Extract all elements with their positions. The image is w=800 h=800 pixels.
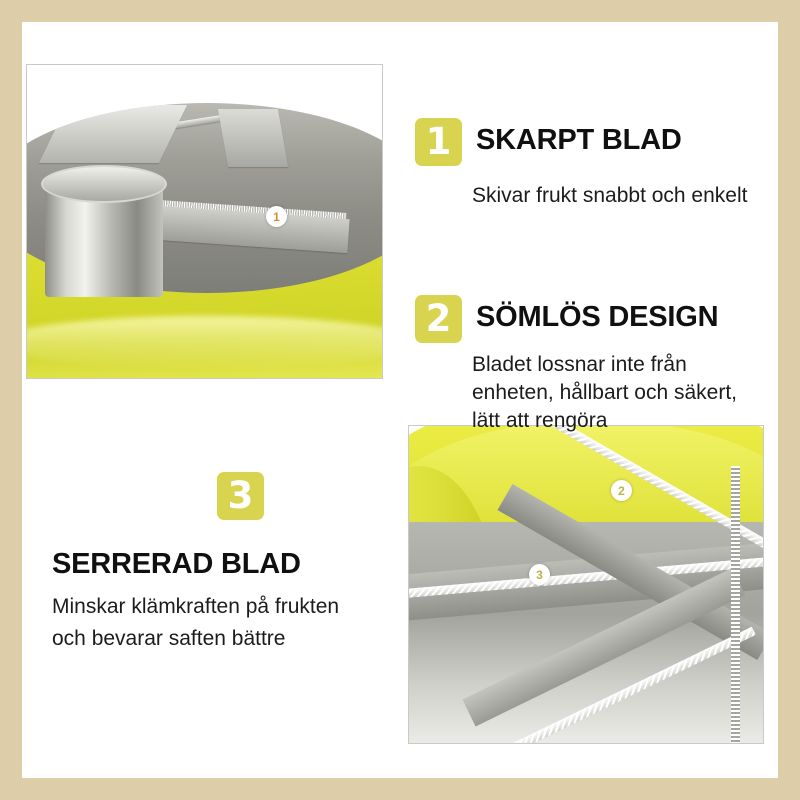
photo-top-inner: 1 — [27, 65, 382, 378]
blade-vertical — [731, 466, 740, 743]
photo-fruit-slicer-blade-closeup: 1 — [26, 64, 383, 379]
photo-marker-2: 2 — [611, 480, 632, 501]
feature-2-header-row: 2 SÖMLÖS DESIGN — [415, 295, 767, 343]
feature-2-body: Bladet lossnar inte från enheten, hållba… — [472, 351, 767, 435]
photo-bottom-inner: 2 3 — [409, 426, 763, 743]
product-feature-page: 1 2 3 1 SKARPT BLAD Skivar frukt snabbt … — [22, 22, 778, 778]
slicer-core-tube-rim — [41, 165, 167, 203]
feature-1-body: Skivar frukt snabbt och enkelt — [472, 180, 765, 212]
feature-1-header-row: 1 SKARPT BLAD — [415, 118, 765, 166]
feature-block-3: 3 SERRERAD BLAD Minskar klämkraften på f… — [30, 472, 390, 655]
feature-3-number-badge: 3 — [217, 472, 264, 520]
feature-block-2: 2 SÖMLÖS DESIGN Bladet lossnar inte från… — [415, 295, 767, 435]
photo-marker-1: 1 — [266, 206, 287, 227]
feature-3-heading: SERRERAD BLAD — [52, 550, 390, 579]
feature-1-number-badge: 1 — [415, 118, 462, 166]
feature-3-body: Minskar klämkraften på frukten och bevar… — [52, 591, 362, 655]
feature-2-heading: SÖMLÖS DESIGN — [476, 295, 718, 332]
photo-marker-3: 3 — [529, 564, 550, 585]
feature-block-1: 1 SKARPT BLAD Skivar frukt snabbt och en… — [415, 118, 765, 212]
feature-2-number-badge: 2 — [415, 295, 462, 343]
blade-vane-left — [39, 105, 187, 163]
photo-serrated-blade-closeup: 2 3 — [408, 425, 764, 744]
feature-1-heading: SKARPT BLAD — [476, 118, 682, 155]
blade-vane-right — [218, 109, 288, 167]
